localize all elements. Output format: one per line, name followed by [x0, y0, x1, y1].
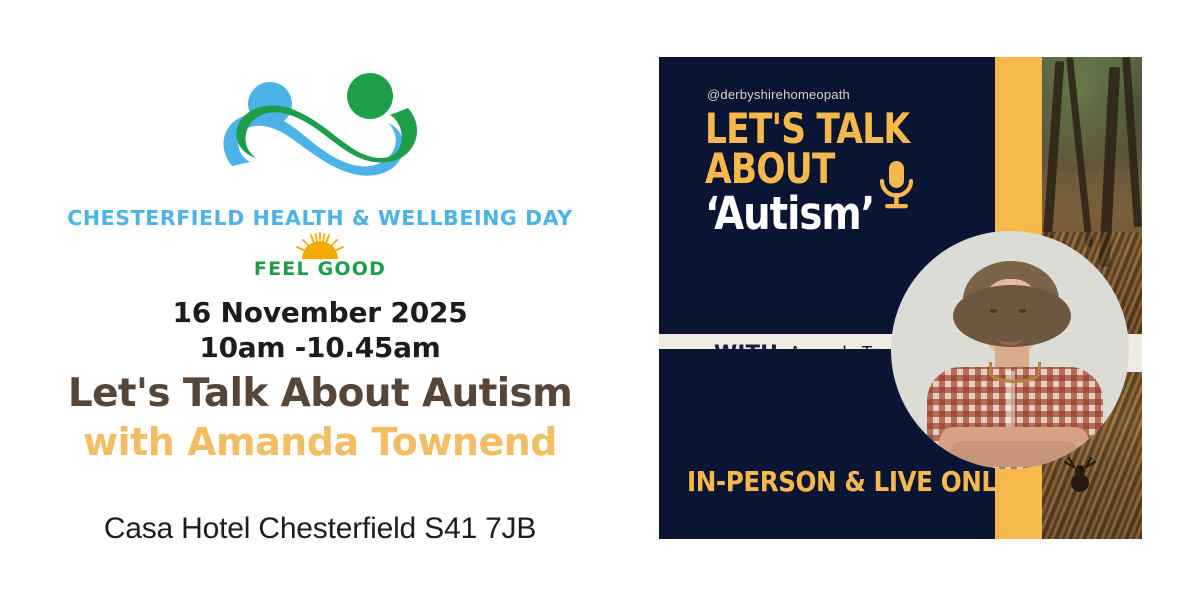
event-venue: Casa Hotel Chesterfield S41 7JB: [0, 512, 640, 546]
event-title: Let's Talk About Autism: [0, 371, 640, 418]
speaker-portrait: [891, 231, 1129, 469]
feel-good-text: FEEL GOOD: [0, 258, 640, 280]
portrait-eye-left: [990, 309, 997, 313]
event-details-block: 16 November 2025 10am -10.45am Let's Tal…: [0, 296, 640, 466]
people-infinity-logo-icon: [202, 70, 438, 202]
instagram-handle: @derbyshirehomeopath: [707, 87, 850, 102]
microphone-icon: [874, 159, 918, 215]
left-info-panel: CHESTERFIELD HEALTH & WELLBEING DAY: [0, 0, 640, 600]
chesterfield-health-wellbeing-logo: CHESTERFIELD HEALTH & WELLBEING DAY: [0, 70, 640, 280]
poster-headline: LET'S TALK ABOUT ‘Autism’: [705, 109, 1005, 236]
event-banner: CHESTERFIELD HEALTH & WELLBEING DAY: [0, 0, 1200, 600]
sunrise-icon: [289, 232, 351, 260]
portrait-smile: [997, 331, 1023, 345]
poster-footer-text: IN-PERSON & LIVE ONLINE: [687, 465, 1042, 498]
event-speaker: with Amanda Townend: [0, 420, 640, 466]
portrait-arm-lower: [949, 441, 1079, 467]
event-date: 16 November 2025: [0, 296, 640, 331]
event-time: 10am -10.45am: [0, 331, 640, 366]
feel-good-lockup: FEEL GOOD: [0, 232, 640, 280]
talk-poster: @derbyshirehomeopath LET'S TALK ABOUT ‘A…: [659, 57, 1142, 539]
headline-line-3: ‘Autism’: [705, 191, 963, 236]
logo-wordmark: CHESTERFIELD HEALTH & WELLBEING DAY: [0, 206, 640, 230]
portrait-eye-right: [1019, 309, 1026, 313]
portrait-necklace: [989, 362, 1041, 383]
